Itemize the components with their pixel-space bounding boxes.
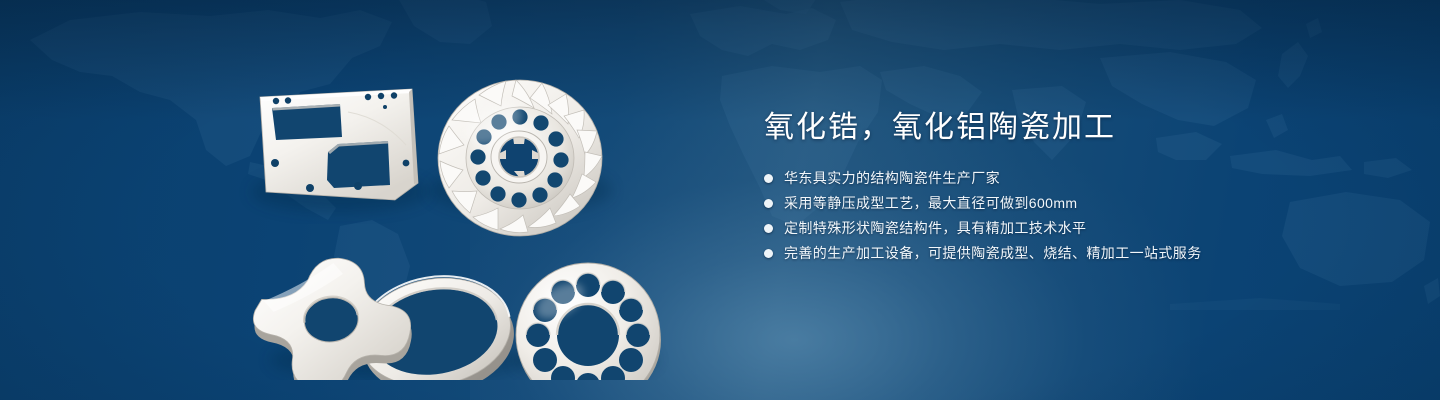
banner-copy: 氧化锆，氧化铝陶瓷加工 华东具实力的结构陶瓷件生产厂家 采用等静压成型工艺，最大… [764,108,1384,280]
list-item: 采用等静压成型工艺，最大直径可做到600mm [764,193,1384,214]
feature-text: 华东具实力的结构陶瓷件生产厂家 [784,168,1000,189]
bullet-dot-icon [764,174,773,183]
bullet-dot-icon [764,224,773,233]
bullet-dot-icon [764,199,773,208]
feature-list: 华东具实力的结构陶瓷件生产厂家 采用等静压成型工艺，最大直径可做到600mm 定… [764,168,1384,264]
list-item: 完善的生产加工设备，可提供陶瓷成型、烧结、精加工一站式服务 [764,243,1384,264]
feature-text: 完善的生产加工设备，可提供陶瓷成型、烧结、精加工一站式服务 [784,243,1202,264]
list-item: 华东具实力的结构陶瓷件生产厂家 [764,168,1384,189]
feature-text: 采用等静压成型工艺，最大直径可做到600mm [784,193,1077,214]
list-item: 定制特殊形状陶瓷结构件，具有精加工技术水平 [764,218,1384,239]
product-machined-plate [260,89,418,200]
bullet-dot-icon [764,249,773,258]
product-photo-cluster [230,40,700,380]
product-vaned-impeller [438,80,602,236]
banner-headline: 氧化锆，氧化铝陶瓷加工 [764,108,1384,148]
product-banner: 氧化锆，氧化铝陶瓷加工 华东具实力的结构陶瓷件生产厂家 采用等静压成型工艺，最大… [0,0,1440,400]
product-perforated-disc [516,263,661,380]
feature-text: 定制特殊形状陶瓷结构件，具有精加工技术水平 [784,218,1086,239]
